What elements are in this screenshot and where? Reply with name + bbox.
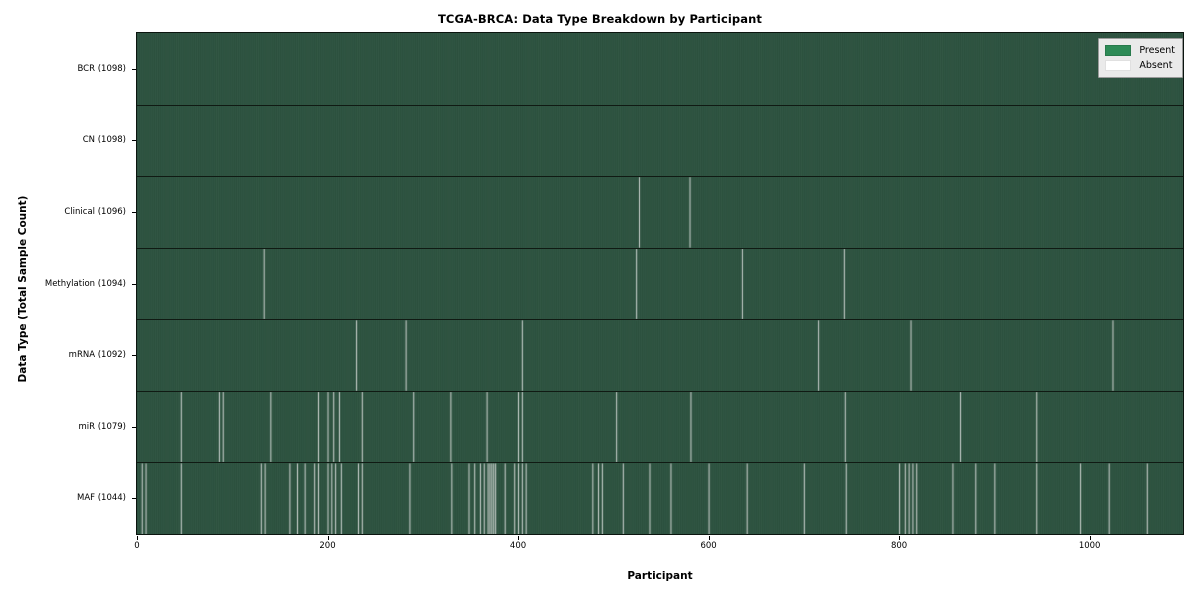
heatmap-canvas: [137, 33, 1183, 534]
x-tick-mark: [137, 536, 138, 540]
y-tick-label-mrna: mRNA (1092): [0, 350, 126, 360]
x-axis-label: Participant: [136, 570, 1184, 582]
legend-label-absent: Absent: [1139, 60, 1172, 71]
y-tick-label-methylation: Methylation (1094): [0, 279, 126, 289]
x-tick-label-800: 800: [869, 541, 929, 551]
x-tick-mark: [709, 536, 710, 540]
x-tick-mark: [328, 536, 329, 540]
y-axis-label: Data Type (Total Sample Count): [17, 159, 29, 419]
y-tick-label-clinical: Clinical (1096): [0, 207, 126, 217]
x-tick-label-400: 400: [488, 541, 548, 551]
chart-figure: TCGA-BRCA: Data Type Breakdown by Partic…: [0, 0, 1200, 600]
x-tick-label-1000: 1000: [1060, 541, 1120, 551]
x-tick-label-0: 0: [107, 541, 167, 551]
heatmap-plot-area: [136, 32, 1184, 535]
y-tick-label-mir: miR (1079): [0, 422, 126, 432]
x-tick-mark: [1090, 536, 1091, 540]
x-tick-mark: [899, 536, 900, 540]
legend-label-present: Present: [1139, 45, 1175, 56]
legend: Present Absent: [1098, 38, 1183, 78]
y-tick-label-bcr: BCR (1098): [0, 64, 126, 74]
x-tick-mark: [518, 536, 519, 540]
y-tick-label-cn: CN (1098): [0, 135, 126, 145]
legend-swatch-present-icon: [1105, 45, 1131, 56]
x-tick-label-600: 600: [679, 541, 739, 551]
legend-item-absent: Absent: [1105, 58, 1175, 73]
y-tick-label-maf: MAF (1044): [0, 493, 126, 503]
x-tick-label-200: 200: [298, 541, 358, 551]
chart-title: TCGA-BRCA: Data Type Breakdown by Partic…: [0, 12, 1200, 26]
legend-item-present: Present: [1105, 43, 1175, 58]
legend-swatch-absent-icon: [1105, 60, 1131, 71]
